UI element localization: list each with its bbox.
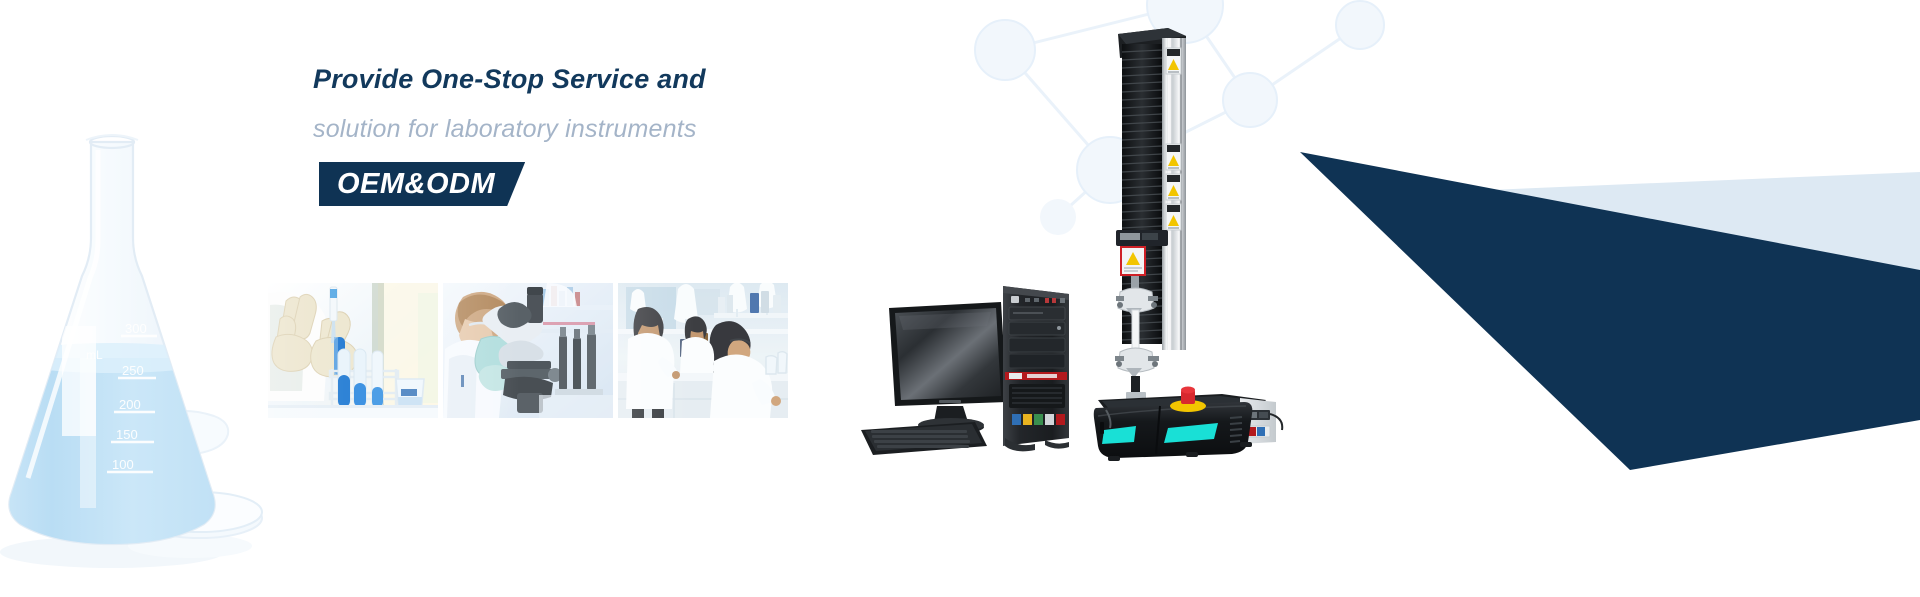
headline-block: Provide One-Stop Service and solution fo…: [313, 60, 1073, 208]
photo-strip: [268, 283, 788, 418]
badge-container: OEM&ODM: [313, 162, 1073, 208]
oem-odm-badge: OEM&ODM: [319, 162, 525, 206]
photo-laboratory-bench-team: [618, 283, 788, 418]
erlenmeyer-flask-illustration: 300 250 200 150 100 mL: [0, 120, 244, 590]
hero-banner: Provide One-Stop Service and solution fo…: [0, 0, 1920, 597]
headline-line-1: Provide One-Stop Service and: [313, 60, 1073, 98]
photo-pipetting-test-tubes: [268, 283, 438, 418]
svg-text:300: 300: [125, 321, 147, 336]
svg-text:mL: mL: [86, 348, 103, 362]
photo-microscope-researcher: [443, 283, 613, 418]
svg-text:250: 250: [122, 363, 144, 378]
universal-testing-machine-illustration: [1090, 18, 1290, 458]
desktop-computer-illustration: [855, 280, 1085, 455]
svg-text:200: 200: [119, 397, 141, 412]
svg-text:100: 100: [112, 457, 134, 472]
svg-text:150: 150: [116, 427, 138, 442]
headline-line-2: solution for laboratory instruments: [313, 110, 1073, 148]
navy-triangle-decor: [1300, 150, 1920, 470]
